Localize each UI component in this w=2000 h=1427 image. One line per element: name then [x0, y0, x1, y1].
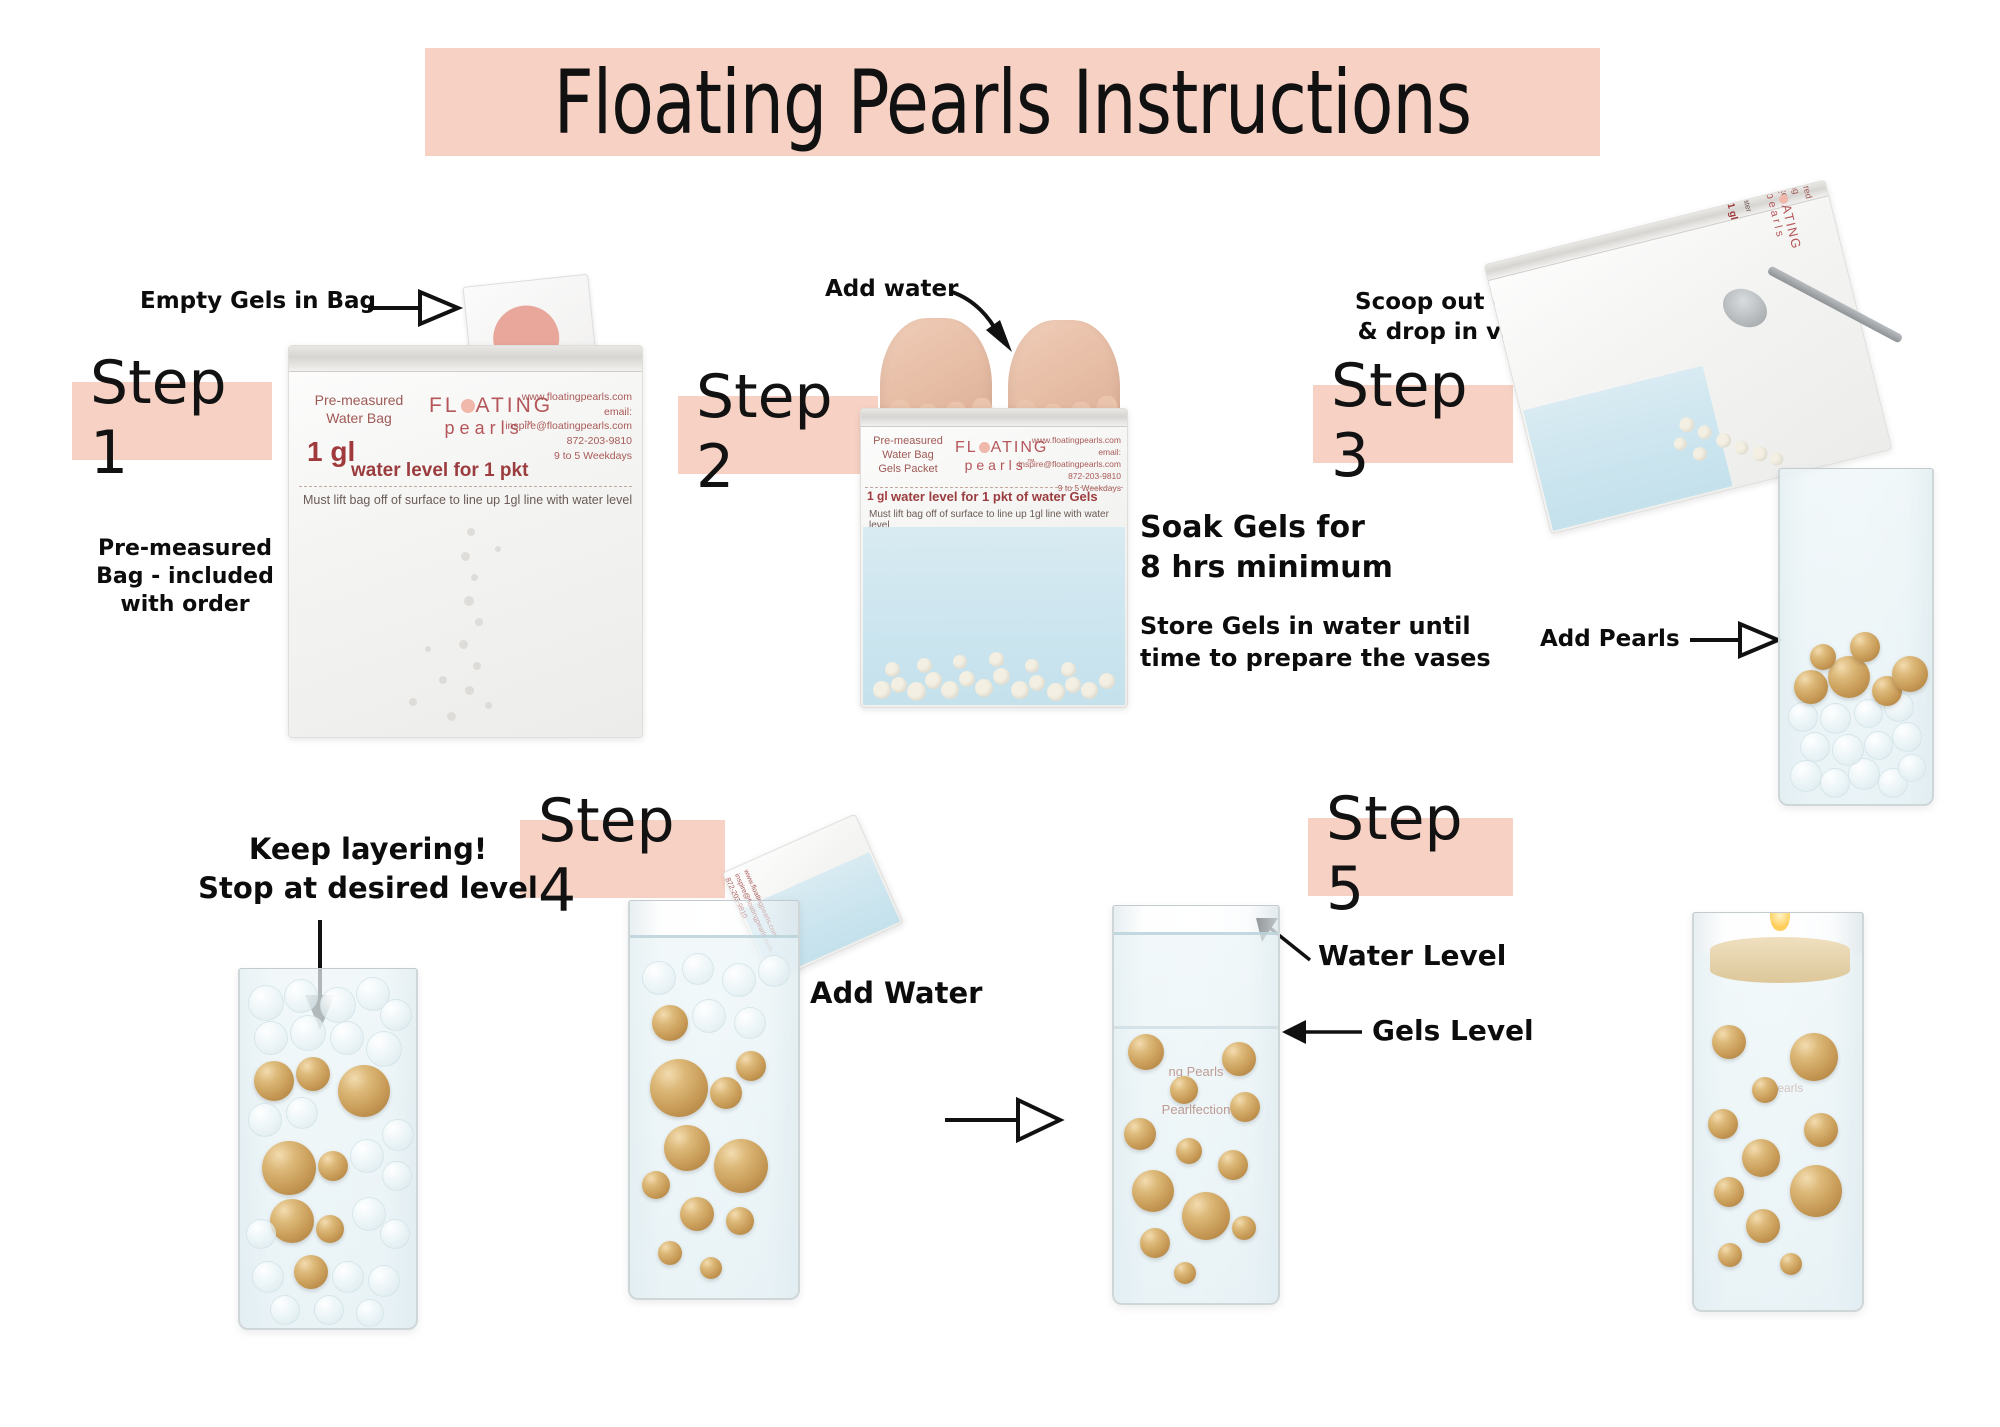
gel-bead	[1029, 675, 1045, 691]
gel-in-vase	[350, 1139, 384, 1173]
gel-granule	[425, 646, 431, 652]
vase5-gels-line	[1114, 1026, 1278, 1029]
gel-granule	[471, 574, 478, 581]
pearl-in-vase	[296, 1057, 330, 1091]
gel-in-vase	[734, 1007, 766, 1039]
gel-in-vase	[382, 1119, 414, 1151]
bag2-volume: 1 gl	[867, 489, 888, 503]
arrow-gels-level	[1282, 1020, 1362, 1044]
arrow-add-pearls	[1690, 624, 1778, 656]
gel-in-vase	[1800, 732, 1830, 762]
bag-zip-top	[289, 346, 642, 372]
callout-add-water-top: Add water	[825, 275, 958, 304]
pearl-in-vase	[710, 1077, 742, 1109]
callout-gels-level: Gels Level	[1372, 1013, 1534, 1049]
gel-in-vase	[252, 1261, 284, 1293]
pearl-in-vase	[1804, 1113, 1838, 1147]
bag-label-volume: 1 gl	[307, 436, 355, 468]
gel-in-vase	[642, 961, 676, 995]
gel-bead	[953, 655, 967, 669]
gel-in-vase	[1898, 754, 1926, 782]
water-bag-step2: Pre-measured Water Bag Gels Packet FLATI…	[860, 408, 1128, 708]
pearl-in-vase	[650, 1059, 708, 1117]
gel-bead	[1099, 673, 1115, 689]
gel-bead	[941, 681, 959, 699]
gel-bead	[1011, 681, 1029, 699]
gel-bead	[1769, 451, 1785, 467]
pearl-in-vase	[1174, 1262, 1196, 1284]
gel-granule	[495, 546, 501, 552]
pearl-in-vase	[680, 1197, 714, 1231]
gel-in-vase	[1892, 722, 1922, 752]
bag-label-premeasured: Pre-measured Water Bag	[307, 392, 411, 427]
bag-contact-email: inspire@floatingpearls.com	[492, 419, 632, 434]
pearl-in-vase	[294, 1255, 328, 1289]
bag2-gels-packet: Gels Packet	[867, 463, 949, 477]
pearl-in-vase	[1232, 1216, 1256, 1240]
bag2-contact: www.floatingpearls.com email: inspire@fl…	[1009, 435, 1121, 494]
vase-step5: ng Pearls Pearlfection	[1112, 905, 1280, 1305]
vase5-water-line	[1114, 932, 1278, 935]
callout-water-level: Water Level	[1318, 938, 1506, 974]
pearl-in-vase	[1176, 1138, 1202, 1164]
pearl-in-vase	[736, 1051, 766, 1081]
callout-store-line2: time to prepare the vases	[1140, 642, 1491, 674]
pearl-in-vase	[1218, 1150, 1248, 1180]
gel-bead	[959, 671, 975, 687]
vase-step3	[1778, 468, 1934, 806]
gel-in-vase	[1820, 703, 1851, 734]
gel-in-vase	[320, 987, 356, 1023]
pearl-in-vase	[270, 1199, 314, 1243]
gel-bead	[1081, 682, 1098, 699]
pearl-in-vase	[1790, 1033, 1838, 1081]
gel-in-vase	[330, 1021, 364, 1055]
step-badge-5: Step 5	[1308, 818, 1513, 896]
gel-in-vase	[248, 985, 284, 1021]
bag-label-contact: www.floatingpearls.com email: inspire@fl…	[492, 390, 632, 463]
gel-in-vase	[284, 979, 318, 1013]
pearl-in-vase	[1170, 1076, 1198, 1104]
gel-bead	[1065, 677, 1081, 693]
bag-contact-website: www.floatingpearls.com	[492, 390, 632, 405]
step-badge-3: Step 3	[1313, 385, 1513, 463]
gel-bead	[1733, 439, 1750, 456]
gel-bead	[975, 679, 993, 697]
gel-granule	[465, 686, 474, 695]
gel-in-vase	[692, 999, 726, 1033]
callout-soak-line2: 8 hrs minimum	[1140, 548, 1393, 588]
bag-logo-fl: FL	[429, 394, 460, 417]
callout-soak-line1: Soak Gels for	[1140, 508, 1393, 548]
gel-bead	[925, 672, 942, 689]
gel-bead	[891, 677, 907, 693]
gel-bead	[1061, 662, 1076, 677]
pearl-in-vase	[1742, 1139, 1780, 1177]
step-badge-1: Step 1	[72, 382, 272, 460]
callout-keep-line1: Keep layering!	[178, 830, 558, 869]
callout-store-gels: Store Gels in water until time to prepar…	[1140, 610, 1491, 675]
bag-label-premeasured-l1: Pre-measured	[307, 392, 411, 410]
bag2-dashed-waterline	[865, 487, 1123, 488]
gel-in-vase	[248, 1103, 282, 1137]
gel-in-vase	[356, 1299, 384, 1327]
callout-premeasured-bag: Pre-measured Bag - included with order	[90, 535, 280, 619]
gel-granule	[447, 712, 456, 721]
gel-bead	[993, 668, 1010, 685]
step-badge-2: Step 2	[678, 396, 878, 474]
gel-in-vase	[270, 1295, 300, 1325]
page-title-banner: Floating Pearls Instructions	[425, 48, 1600, 156]
bag-zip-top	[861, 409, 1127, 427]
pearl-in-vase	[1128, 1034, 1164, 1070]
gel-granule	[467, 528, 475, 536]
callout-premeasured-line2: Bag - included	[90, 563, 280, 591]
bag2-contact-website: www.floatingpearls.com	[1009, 435, 1121, 447]
gel-in-vase	[380, 999, 412, 1031]
pearl-in-vase	[1712, 1025, 1746, 1059]
callout-store-line1: Store Gels in water until	[1140, 610, 1491, 642]
pearl-in-vase	[254, 1061, 294, 1101]
callout-empty-gels: Empty Gels in Bag	[140, 287, 376, 316]
bag2-logo-fl: FL	[955, 439, 978, 456]
pearl-in-vase	[1850, 632, 1880, 662]
bag2-label-premeasured: Pre-measured Water Bag Gels Packet	[867, 435, 949, 476]
gel-in-vase	[1820, 768, 1850, 798]
gel-in-vase	[246, 1219, 276, 1249]
gel-bead	[885, 662, 900, 677]
vase4-water-line	[630, 935, 798, 938]
bag2-premeasured-l1: Pre-measured	[867, 435, 949, 449]
vase-step4	[628, 900, 800, 1300]
bag2-premeasured-l2: Water Bag	[867, 449, 949, 463]
gel-granule	[409, 698, 417, 706]
gel-in-vase	[722, 963, 756, 997]
pearl-in-vase	[1714, 1177, 1744, 1207]
pearl-in-vase	[1718, 1243, 1742, 1267]
pearl-in-vase	[262, 1141, 316, 1195]
pearl-in-vase	[726, 1207, 754, 1235]
vase-layered	[238, 968, 418, 1330]
gel-granule	[464, 596, 474, 606]
arrow-step4-to-step5	[945, 1100, 1060, 1140]
gel-in-vase	[1832, 734, 1864, 766]
pearl-in-vase	[1132, 1170, 1174, 1212]
gel-bead	[917, 658, 932, 673]
gel-in-vase	[380, 1219, 410, 1249]
pearl-in-vase	[700, 1257, 722, 1279]
bag-contact-phone: 872-203-9810	[492, 434, 632, 449]
logo-circle-icon	[461, 399, 475, 413]
gel-in-vase	[1788, 702, 1818, 732]
bag2-contact-phone: 872-203-9810	[1009, 471, 1121, 483]
gel-bead	[989, 652, 1004, 667]
gel-granule	[459, 640, 468, 649]
pearl-in-vase	[1780, 1253, 1802, 1275]
vase-final-candle: ng Pearls	[1692, 912, 1864, 1312]
callout-add-water-step4: Add Water	[810, 975, 982, 1012]
gel-in-vase	[368, 1265, 400, 1297]
pearl-in-vase	[652, 1005, 688, 1041]
gel-granule	[461, 552, 470, 561]
pearl-in-vase	[1752, 1077, 1778, 1103]
pearl-in-vase	[1140, 1228, 1170, 1258]
bag2-contact-email: inspire@floatingpearls.com	[1009, 459, 1121, 471]
pearl-in-vase	[1892, 656, 1928, 692]
callout-keep-line2: Stop at desired level	[178, 869, 558, 908]
arrow-empty-gels	[368, 292, 458, 324]
pearl-in-vase	[714, 1139, 768, 1193]
floating-candle	[1710, 937, 1850, 983]
pearl-in-vase	[1810, 644, 1836, 670]
callout-premeasured-line3: with order	[90, 591, 280, 619]
bag2-water-level: water level for 1 pkt of water Gels	[891, 489, 1098, 504]
gel-in-vase	[290, 1015, 326, 1051]
bag-contact-email-label: email:	[492, 405, 632, 420]
pearl-in-vase	[1790, 1165, 1842, 1217]
pearl-in-vase	[1124, 1118, 1156, 1150]
gel-granule	[475, 618, 483, 626]
gel-in-vase	[382, 1161, 412, 1191]
pearl-in-vase	[1794, 670, 1828, 704]
bag-dashed-waterline	[299, 486, 632, 487]
gel-bead	[907, 682, 926, 701]
bag-label-must-lift: Must lift bag off of surface to line up …	[303, 493, 632, 507]
logo-circle-icon	[979, 442, 990, 453]
pearl-in-vase	[642, 1171, 670, 1199]
vase-final-print: ng Pearls	[1694, 1081, 1862, 1095]
pearl-in-vase	[318, 1151, 348, 1181]
gel-in-vase	[286, 1097, 318, 1129]
callout-keep-layering: Keep layering! Stop at desired level	[178, 830, 558, 908]
water-bag-step1: Pre-measured Water Bag 1 gl FLATING pear…	[288, 345, 643, 738]
gel-in-vase	[254, 1021, 288, 1055]
candle-flame-icon	[1770, 912, 1790, 931]
page-title: Floating Pearls Instructions	[554, 51, 1472, 154]
bag2-contact-email-label: email:	[1009, 447, 1121, 459]
pearl-in-vase	[658, 1241, 682, 1265]
gel-bead	[1047, 683, 1065, 701]
gel-in-vase	[1864, 731, 1893, 760]
gel-in-vase	[314, 1295, 344, 1325]
gel-in-vase	[332, 1261, 364, 1293]
callout-premeasured-line1: Pre-measured	[90, 535, 280, 563]
pearl-in-vase	[1182, 1192, 1230, 1240]
gel-bead	[1025, 659, 1039, 673]
pearl-in-vase	[316, 1215, 344, 1243]
gel-bead	[873, 681, 891, 699]
pearl-in-vase	[1230, 1092, 1260, 1122]
gel-granule	[485, 702, 492, 709]
gel-in-vase	[1790, 760, 1822, 792]
callout-add-pearls: Add Pearls	[1540, 625, 1680, 654]
bag-label-water-level: water level for 1 pkt	[351, 460, 528, 482]
gel-in-vase	[758, 955, 790, 987]
gel-granule	[473, 662, 481, 670]
pearl-in-vase	[1746, 1209, 1780, 1243]
gel-granule	[439, 676, 447, 684]
pearl-in-vase	[338, 1065, 390, 1117]
gel-in-vase	[682, 953, 714, 985]
pearl-in-vase	[664, 1125, 710, 1171]
callout-soak-gels: Soak Gels for 8 hrs minimum	[1140, 508, 1393, 588]
pearl-in-vase	[1708, 1109, 1738, 1139]
gel-bead	[1751, 445, 1769, 463]
bag-label-premeasured-l2: Water Bag	[307, 410, 411, 428]
pearl-in-vase	[1222, 1042, 1256, 1076]
gel-in-vase	[366, 1031, 402, 1067]
instruction-poster: Floating Pearls Instructions	[0, 0, 2000, 1427]
